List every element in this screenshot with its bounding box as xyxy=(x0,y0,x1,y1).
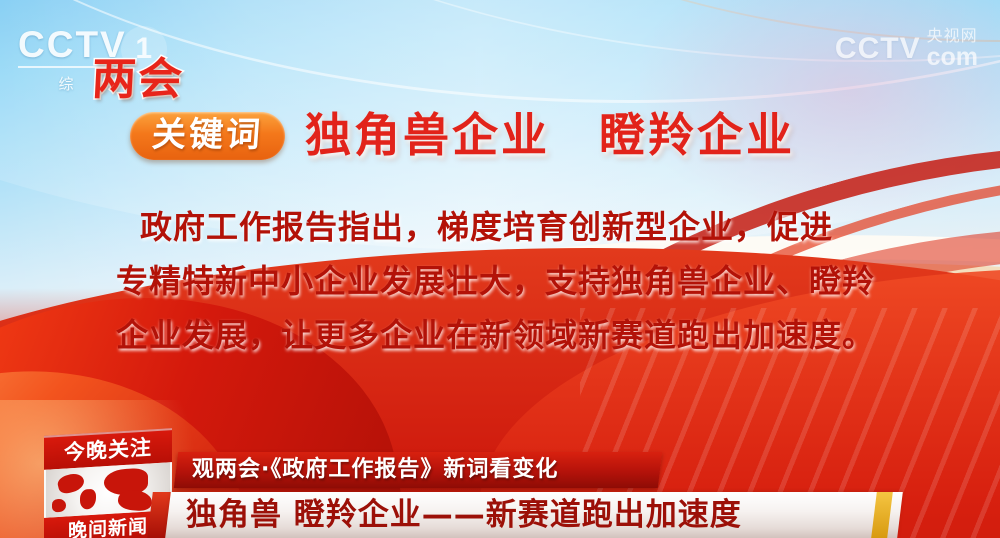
cctv-com-watermark: CCTV 央视网 com xyxy=(835,28,978,70)
broadcast-frame: CCTV 综 1 CCTV 央视网 com 两会 关键词 独角兽企业 瞪羚企业 … xyxy=(0,0,1000,538)
keyword-title: 独角兽企业 瞪羚企业 xyxy=(305,112,795,158)
program-logo-bottom-label: 晚间新闻 xyxy=(68,517,148,538)
subtitle-strap-inner: 观两会·《政府工作报告》新词看变化 xyxy=(192,459,558,481)
keyword-badge-label: 关键词 xyxy=(151,118,264,152)
body-line-2: 专精特新中小企业发展壮大，支持独角兽企业、瞪羚 xyxy=(116,254,880,308)
watermark-com-text: com xyxy=(927,45,978,70)
headline-text: 独角兽 瞪羚企业——新赛道跑出加速度 xyxy=(186,497,742,533)
headline-bar-inner: 独角兽 瞪羚企业——新赛道跑出加速度 xyxy=(186,500,742,531)
body-paragraph: 政府工作报告指出，梯度培育创新型企业，促进 专精特新中小企业发展壮大，支持独角兽… xyxy=(140,200,880,362)
body-line-3: 企业发展，让更多企业在新领域新赛道跑出加速度。 xyxy=(116,308,880,362)
subtitle-strap-text: 观两会·《政府工作报告》新词看变化 xyxy=(192,457,558,482)
program-logo-top-label: 今晚关注 xyxy=(64,437,152,463)
lianghui-logo: 两会 xyxy=(91,58,185,102)
headline-bar: 独角兽 瞪羚企业——新赛道跑出加速度 xyxy=(165,492,903,538)
body-line-1: 政府工作报告指出，梯度培育创新型企业，促进 xyxy=(140,200,880,254)
keyword-badge: 关键词 xyxy=(130,112,285,160)
watermark-right-block: 央视网 com xyxy=(927,28,978,70)
watermark-cctv-text: CCTV xyxy=(835,32,921,66)
watermark-chinese-text: 央视网 xyxy=(927,28,978,44)
subtitle-strap: 观两会·《政府工作报告》新词看变化 xyxy=(174,452,662,488)
